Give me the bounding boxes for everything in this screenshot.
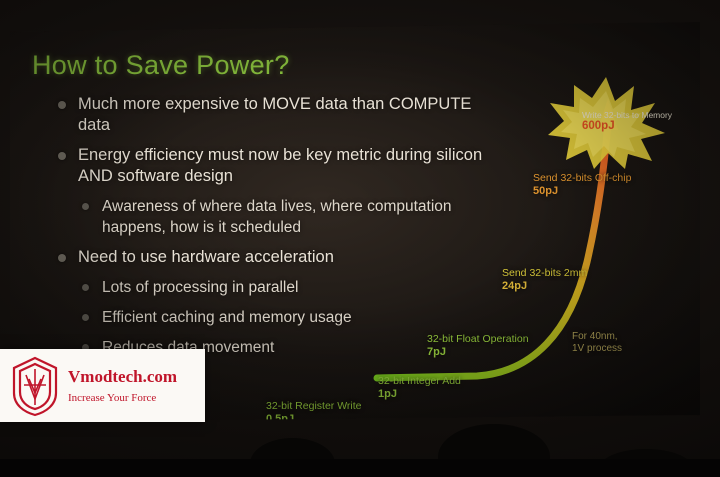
bullet-dot-icon [58, 101, 66, 109]
label-value: 1pJ [378, 388, 518, 401]
list-item-label: Lots of processing in parallel [102, 279, 298, 296]
list-item-label: Need to use hardware acceleration [78, 248, 334, 266]
bullet-dot-icon [82, 203, 89, 210]
bullet-dot-icon [58, 254, 66, 262]
label-value: 600pJ [582, 120, 674, 132]
bullet-dot-icon [82, 284, 89, 291]
label-value: 24pJ [502, 280, 642, 293]
label-name: Send 32-bits Off-chip [533, 172, 673, 185]
bullet-dot-icon [58, 152, 66, 160]
label-name: Write 32-bits to Memory [582, 110, 674, 120]
process-note: For 40nm, 1V process [572, 331, 642, 355]
label-send-2mm: Send 32-bits 2mm 24pJ [502, 267, 642, 292]
label-name: Send 32-bits 2mm [502, 267, 642, 280]
photograph: How to Save Power? Much more expensive t… [0, 0, 720, 477]
watermark-title: Vmodtech.com [68, 367, 177, 387]
label-name: 32-bit Register Write [266, 400, 416, 413]
label-integer-add: 32-bit Integer Add 1pJ [378, 375, 518, 400]
vmodtech-logo-icon [4, 355, 66, 417]
watermark-text: Vmodtech.com Increase Your Force [68, 367, 177, 404]
page-title: How to Save Power? [32, 50, 290, 81]
foreground-shadow [0, 459, 720, 477]
label-memory-write: Write 32-bits to Memory 600pJ [582, 110, 674, 132]
watermark: Vmodtech.com Increase Your Force [0, 349, 205, 422]
bullet-dot-icon [82, 314, 89, 321]
list-item-label: Efficient caching and memory usage [102, 309, 352, 326]
label-value: 50pJ [533, 185, 673, 198]
label-float-op: 32-bit Float Operation 7pJ [427, 333, 577, 358]
label-name: 32-bit Integer Add [378, 375, 518, 388]
label-name: 32-bit Float Operation [427, 333, 577, 346]
watermark-subtitle: Increase Your Force [68, 392, 177, 404]
label-value: 7pJ [427, 346, 577, 359]
label-off-chip: Send 32-bits Off-chip 50pJ [533, 172, 673, 197]
